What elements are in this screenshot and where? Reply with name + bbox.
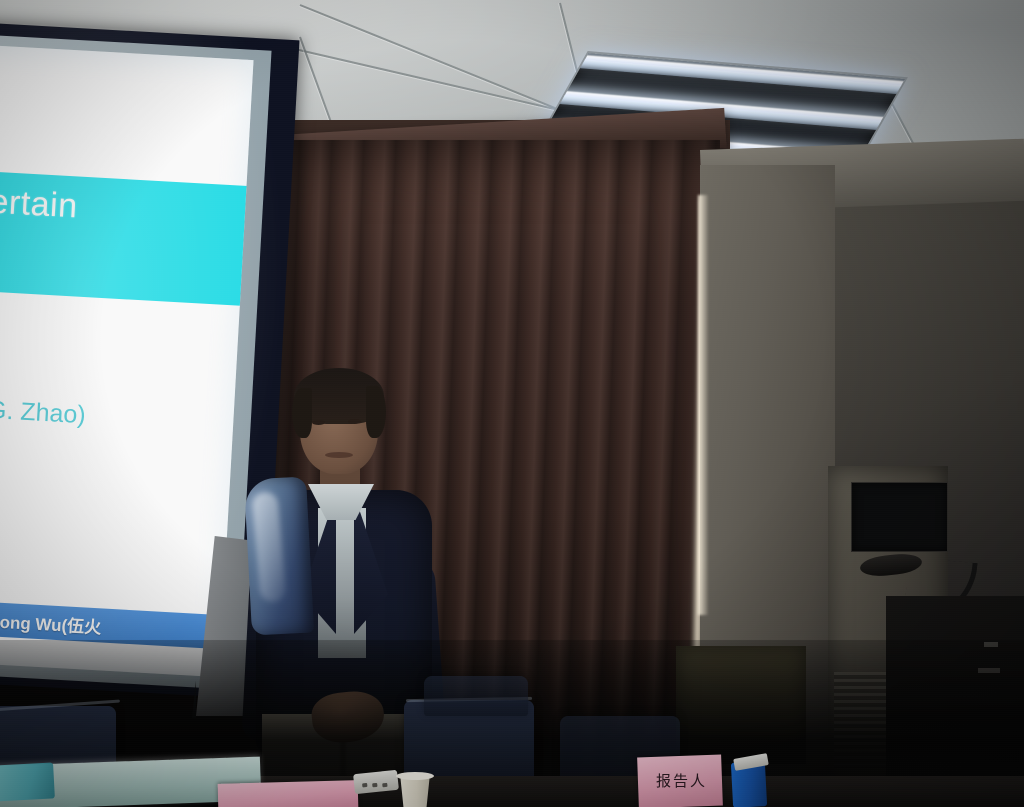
name-placard-left [218,780,359,807]
conference-room-photo: n Certain es g and G. Zhao) du.cn 门大学)Hu… [0,0,1024,807]
eye-left [312,420,325,425]
paper-cup-rim [396,772,434,780]
slide-email: du.cn [0,480,243,527]
pillar-highlight [698,195,708,615]
name-placard-label: 报告人 [656,770,707,791]
eye-right [348,419,361,424]
slide-authors: g and G. Zhao) [0,392,248,439]
chair [424,676,528,716]
table-object-teal [0,762,55,801]
slide-footer-text: 门大学)Huoxiong Wu(伍火 [0,601,102,638]
hair-side-left [292,388,312,438]
monitor-screen [851,482,948,552]
mouth [325,452,353,458]
hair-side-right [366,386,386,438]
